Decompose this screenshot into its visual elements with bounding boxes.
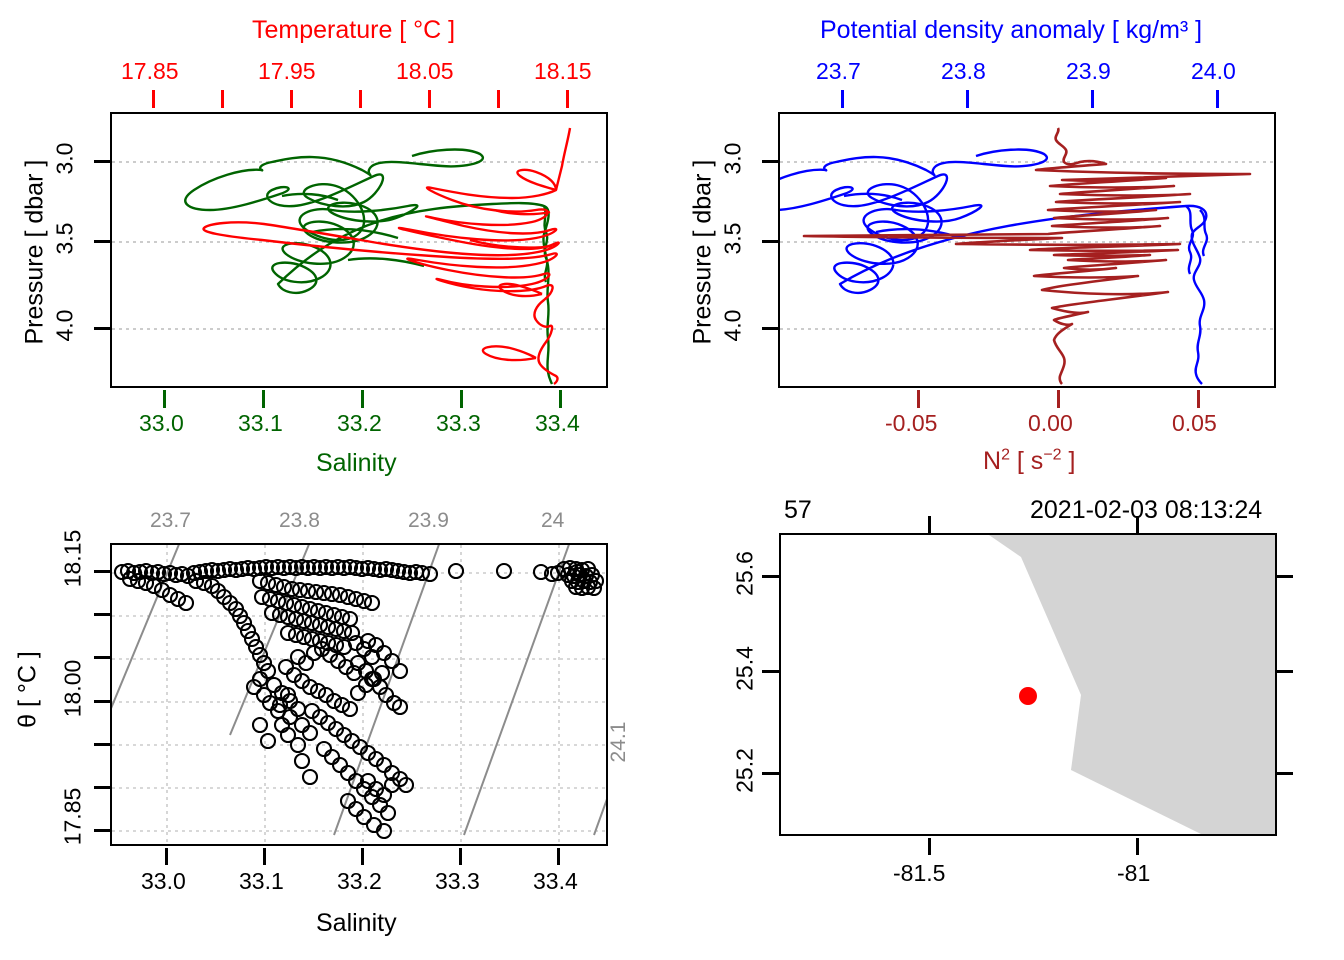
- n2-tick-mark: [917, 390, 920, 408]
- longitude-tick-mark: [1136, 838, 1139, 855]
- density-tick-label: 23.8: [941, 58, 986, 85]
- temperature-tick-mark: [359, 90, 362, 108]
- gridlines: [112, 545, 606, 844]
- gridlines: [112, 162, 606, 329]
- longitude-tick-label: -81.5: [893, 860, 945, 887]
- salinity-tick-mark: [460, 390, 463, 408]
- pressure-axis-title: Pressure [ dbar ]: [21, 165, 50, 345]
- pressure-tick-mark: [762, 160, 778, 163]
- salinity-tick-mark: [361, 390, 364, 408]
- n2-tick-label: 0.05: [1172, 410, 1217, 437]
- ts-salinity-tick-label: 33.4: [533, 868, 578, 895]
- density-tick-mark: [966, 90, 969, 108]
- n2-tick-label: -0.05: [885, 410, 937, 437]
- salinity-tick-mark: [262, 390, 265, 408]
- ts-salinity-tick-mark: [165, 848, 168, 865]
- temperature-tick-mark: [152, 90, 155, 108]
- n2-tick-mark: [1197, 390, 1200, 408]
- theta-axis-title: θ [ °C ]: [14, 635, 43, 745]
- temperature-tick-mark: [221, 90, 224, 108]
- theta-tick-mark: [94, 786, 110, 789]
- temperature-tick-mark: [566, 90, 569, 108]
- temperature-trace: [204, 128, 570, 384]
- theta-tick-label: 18.15: [60, 526, 87, 592]
- longitude-tick-mark-top: [1136, 516, 1139, 533]
- isopycnal-label: 24: [541, 509, 564, 533]
- salinity-tick-label: 33.2: [337, 410, 382, 437]
- ts-salinity-tick-label: 33.1: [239, 868, 284, 895]
- salinity-tick-mark: [559, 390, 562, 408]
- isopycnal-lines: [112, 545, 606, 835]
- density-axis-title: Potential density anomaly [ kg/m³ ]: [820, 16, 1202, 45]
- density-trace: [780, 150, 1207, 384]
- latitude-tick-label: 25.4: [732, 638, 759, 700]
- profile-ts-plot-area: [110, 112, 608, 388]
- latitude-tick-label: 25.6: [732, 543, 759, 605]
- salinity-tick-label: 33.1: [238, 410, 283, 437]
- temperature-tick-mark: [497, 90, 500, 108]
- isopycnal-label: 23.8: [279, 509, 320, 533]
- profile-density-n2-plot-area: [778, 112, 1276, 388]
- salinity-tick-label: 33.3: [436, 410, 481, 437]
- temperature-tick-label: 18.15: [534, 58, 592, 85]
- isopycnal-label: 23.9: [408, 509, 449, 533]
- pressure-tick-mark: [762, 240, 778, 243]
- map-plot-area: [779, 533, 1277, 836]
- ts-diagram-svg: [112, 545, 606, 844]
- pressure-tick-mark: [94, 240, 110, 243]
- n2-axis-title: N2 [ s−2 ]: [983, 447, 1075, 476]
- ts-salinity-tick-label: 33.0: [141, 868, 186, 895]
- latitude-tick-mark-right: [1276, 575, 1293, 578]
- temperature-tick-label: 18.05: [396, 58, 454, 85]
- ts-salinity-tick-label: 33.2: [337, 868, 382, 895]
- pressure-tick-label: 4.0: [52, 298, 79, 354]
- ts-scatter-points: [115, 560, 603, 838]
- ts-salinity-tick-label: 33.3: [435, 868, 480, 895]
- isopycnal-label: 23.7: [150, 509, 191, 533]
- temperature-axis-title: Temperature [ °C ]: [252, 16, 455, 45]
- theta-tick-mark: [94, 656, 110, 659]
- ts-salinity-axis-title: Salinity: [316, 909, 397, 938]
- theta-tick-mark: [94, 613, 110, 616]
- map-svg: [781, 535, 1275, 834]
- theta-tick-label: 18.00: [60, 656, 87, 722]
- temperature-tick-label: 17.85: [121, 58, 179, 85]
- pressure-axis-title: Pressure [ dbar ]: [689, 165, 718, 345]
- latitude-tick-label: 25.2: [732, 740, 759, 802]
- n2-tick-label: 0.00: [1028, 410, 1073, 437]
- station-timestamp: 2021-02-03 08:13:24: [1030, 496, 1262, 525]
- salinity-tick-label: 33.4: [535, 410, 580, 437]
- theta-tick-label: 17.85: [60, 784, 87, 850]
- ts-salinity-tick-mark: [263, 848, 266, 865]
- temperature-tick-mark: [290, 90, 293, 108]
- ts-salinity-tick-mark: [557, 848, 560, 865]
- pressure-tick-label: 3.5: [720, 211, 747, 267]
- ts-salinity-tick-mark: [459, 848, 462, 865]
- theta-tick-mark: [94, 829, 110, 832]
- pressure-tick-label: 3.0: [52, 131, 79, 187]
- salinity-tick-label: 33.0: [139, 410, 184, 437]
- density-tick-mark: [841, 90, 844, 108]
- theta-tick-mark: [94, 570, 110, 573]
- density-tick-mark: [1216, 90, 1219, 108]
- isopycnal-label: 24.1: [607, 720, 631, 764]
- longitude-tick-label: -81: [1117, 860, 1150, 887]
- profile-density-n2-svg: [780, 114, 1274, 386]
- latitude-tick-mark: [762, 575, 779, 578]
- temperature-tick-mark: [428, 90, 431, 108]
- n2-axis-title-text: N2 [ s−2 ]: [983, 447, 1075, 475]
- latitude-tick-mark-right: [1276, 772, 1293, 775]
- pressure-tick-label: 3.5: [52, 211, 79, 267]
- pressure-tick-mark: [94, 327, 110, 330]
- theta-tick-mark: [94, 743, 110, 746]
- latitude-tick-mark: [762, 670, 779, 673]
- longitude-tick-mark: [928, 838, 931, 855]
- salinity-tick-mark: [163, 390, 166, 408]
- salinity-axis-title: Salinity: [316, 449, 397, 478]
- latitude-tick-mark: [762, 772, 779, 775]
- ts-diagram-plot-area: [110, 543, 608, 846]
- pressure-tick-mark: [94, 160, 110, 163]
- density-tick-label: 23.9: [1066, 58, 1111, 85]
- figure-root: Temperature [ °C ] 17.85 17.95 18.05 18.…: [0, 0, 1344, 960]
- pressure-tick-mark: [762, 327, 778, 330]
- longitude-tick-mark-top: [928, 516, 931, 533]
- pressure-tick-label: 4.0: [720, 298, 747, 354]
- pressure-tick-label: 3.0: [720, 131, 747, 187]
- n2-tick-mark: [1057, 390, 1060, 408]
- density-tick-mark: [1091, 90, 1094, 108]
- land-polygon: [989, 535, 1275, 834]
- theta-tick-mark: [94, 700, 110, 703]
- station-number: 57: [784, 496, 812, 525]
- profile-ts-svg: [112, 114, 606, 386]
- station-marker: [1019, 687, 1037, 705]
- ts-salinity-tick-mark: [361, 848, 364, 865]
- temperature-tick-label: 17.95: [258, 58, 316, 85]
- density-tick-label: 23.7: [816, 58, 861, 85]
- density-tick-label: 24.0: [1191, 58, 1236, 85]
- latitude-tick-mark-right: [1276, 670, 1293, 673]
